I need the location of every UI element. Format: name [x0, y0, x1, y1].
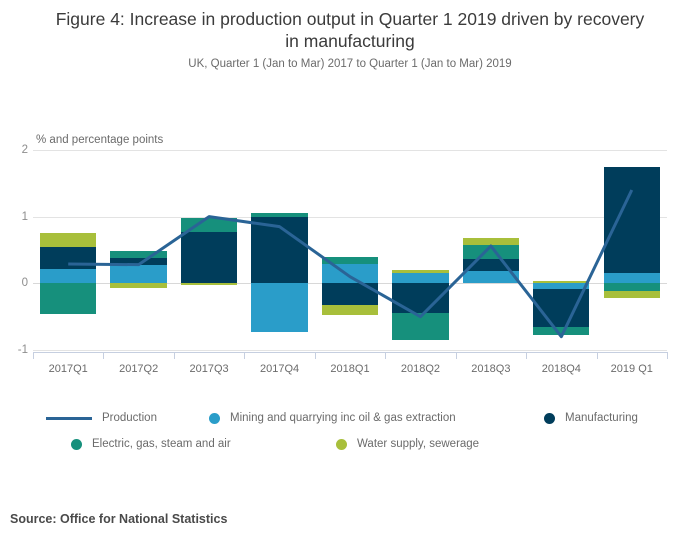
bar-segment: [533, 281, 589, 284]
x-tick-label: 2018Q3: [471, 363, 510, 375]
legend-item[interactable]: Electric, gas, steam and air: [71, 431, 231, 457]
bar-segment: [110, 251, 166, 258]
source-note: Source: Office for National Statistics: [10, 512, 227, 526]
y-tick-label: 2: [6, 144, 28, 156]
x-tick-label: 2017Q4: [260, 363, 299, 375]
x-tick-label: 2019 Q1: [611, 363, 653, 375]
x-tick-label: 2018Q4: [542, 363, 581, 375]
y-axis-unit-label: % and percentage points: [36, 134, 167, 146]
legend-dot-swatch-icon: [209, 413, 220, 424]
x-axis-tick: [385, 352, 386, 359]
bar-segment: [110, 283, 166, 288]
bar-segment: [463, 238, 519, 245]
bar-segment: [392, 313, 448, 340]
y-tick-label: 0: [6, 277, 28, 289]
bar-segment: [392, 283, 448, 313]
bar-segment: [322, 257, 378, 264]
bar-segment: [110, 265, 166, 284]
bar-segment: [40, 283, 96, 314]
bar-segment: [604, 291, 660, 298]
bar-segment: [463, 245, 519, 260]
legend-label: Water supply, sewerage: [357, 438, 479, 450]
figure-container: Figure 4: Increase in production output …: [0, 0, 700, 549]
bar-segment: [463, 259, 519, 270]
x-axis-tick: [456, 352, 457, 359]
x-axis-tick: [103, 352, 104, 359]
bar-segment: [40, 247, 96, 269]
bar-segment: [604, 167, 660, 274]
x-tick-label: 2017Q1: [49, 363, 88, 375]
bar-segment: [604, 273, 660, 283]
bar-segment: [463, 271, 519, 284]
y-axis-labels-group: -1012: [0, 0, 28, 549]
bar-segment: [251, 283, 307, 332]
bar-segment: [110, 258, 166, 265]
chart-legend: ProductionMining and quarrying inc oil &…: [46, 405, 686, 457]
bar-segment: [40, 233, 96, 247]
legend-item[interactable]: Water supply, sewerage: [336, 431, 479, 457]
legend-item[interactable]: Mining and quarrying inc oil & gas extra…: [209, 405, 456, 431]
legend-label: Electric, gas, steam and air: [92, 438, 231, 450]
x-axis-tick: [174, 352, 175, 359]
bar-segment: [533, 327, 589, 336]
bar-segment: [251, 217, 307, 284]
x-axis-tick: [667, 352, 668, 359]
bar-segment: [322, 264, 378, 283]
bar-segment: [40, 269, 96, 283]
bar-segment: [392, 270, 448, 273]
bar-segment: [604, 283, 660, 291]
x-axis-tick: [244, 352, 245, 359]
legend-row-bottom: Electric, gas, steam and airWater supply…: [46, 431, 686, 457]
plot-area: % and percentage points -1012 2017Q12017…: [0, 0, 700, 549]
gridline-2: [33, 150, 667, 151]
legend-dot-swatch-icon: [71, 439, 82, 450]
x-tick-label: 2017Q3: [190, 363, 229, 375]
legend-label: Production: [102, 412, 157, 424]
x-axis-tick: [33, 352, 34, 359]
bar-segment: [533, 289, 589, 327]
x-tick-label: 2017Q2: [119, 363, 158, 375]
legend-label: Manufacturing: [565, 412, 638, 424]
y-tick-label: -1: [6, 344, 28, 356]
bar-segment: [392, 273, 448, 284]
legend-dot-swatch-icon: [336, 439, 347, 450]
x-axis-tick: [315, 352, 316, 359]
bar-segment: [322, 283, 378, 305]
legend-row-top: ProductionMining and quarrying inc oil &…: [46, 405, 686, 431]
bar-segment: [181, 283, 237, 285]
bar-segment: [181, 232, 237, 283]
legend-line-swatch-icon: [46, 417, 92, 420]
x-tick-label: 2018Q2: [401, 363, 440, 375]
bar-segment: [181, 218, 237, 232]
x-axis-tick: [526, 352, 527, 359]
bar-segment: [322, 305, 378, 315]
x-axis-tick: [597, 352, 598, 359]
x-tick-label: 2018Q1: [330, 363, 369, 375]
legend-label: Mining and quarrying inc oil & gas extra…: [230, 412, 456, 424]
bar-segment: [251, 213, 307, 216]
y-tick-label: 1: [6, 211, 28, 223]
legend-dot-swatch-icon: [544, 413, 555, 424]
gridline-1: [33, 217, 667, 218]
gridline--1: [33, 350, 667, 351]
x-axis-line: [33, 352, 667, 353]
legend-item[interactable]: Manufacturing: [544, 405, 638, 431]
legend-item[interactable]: Production: [46, 405, 157, 431]
